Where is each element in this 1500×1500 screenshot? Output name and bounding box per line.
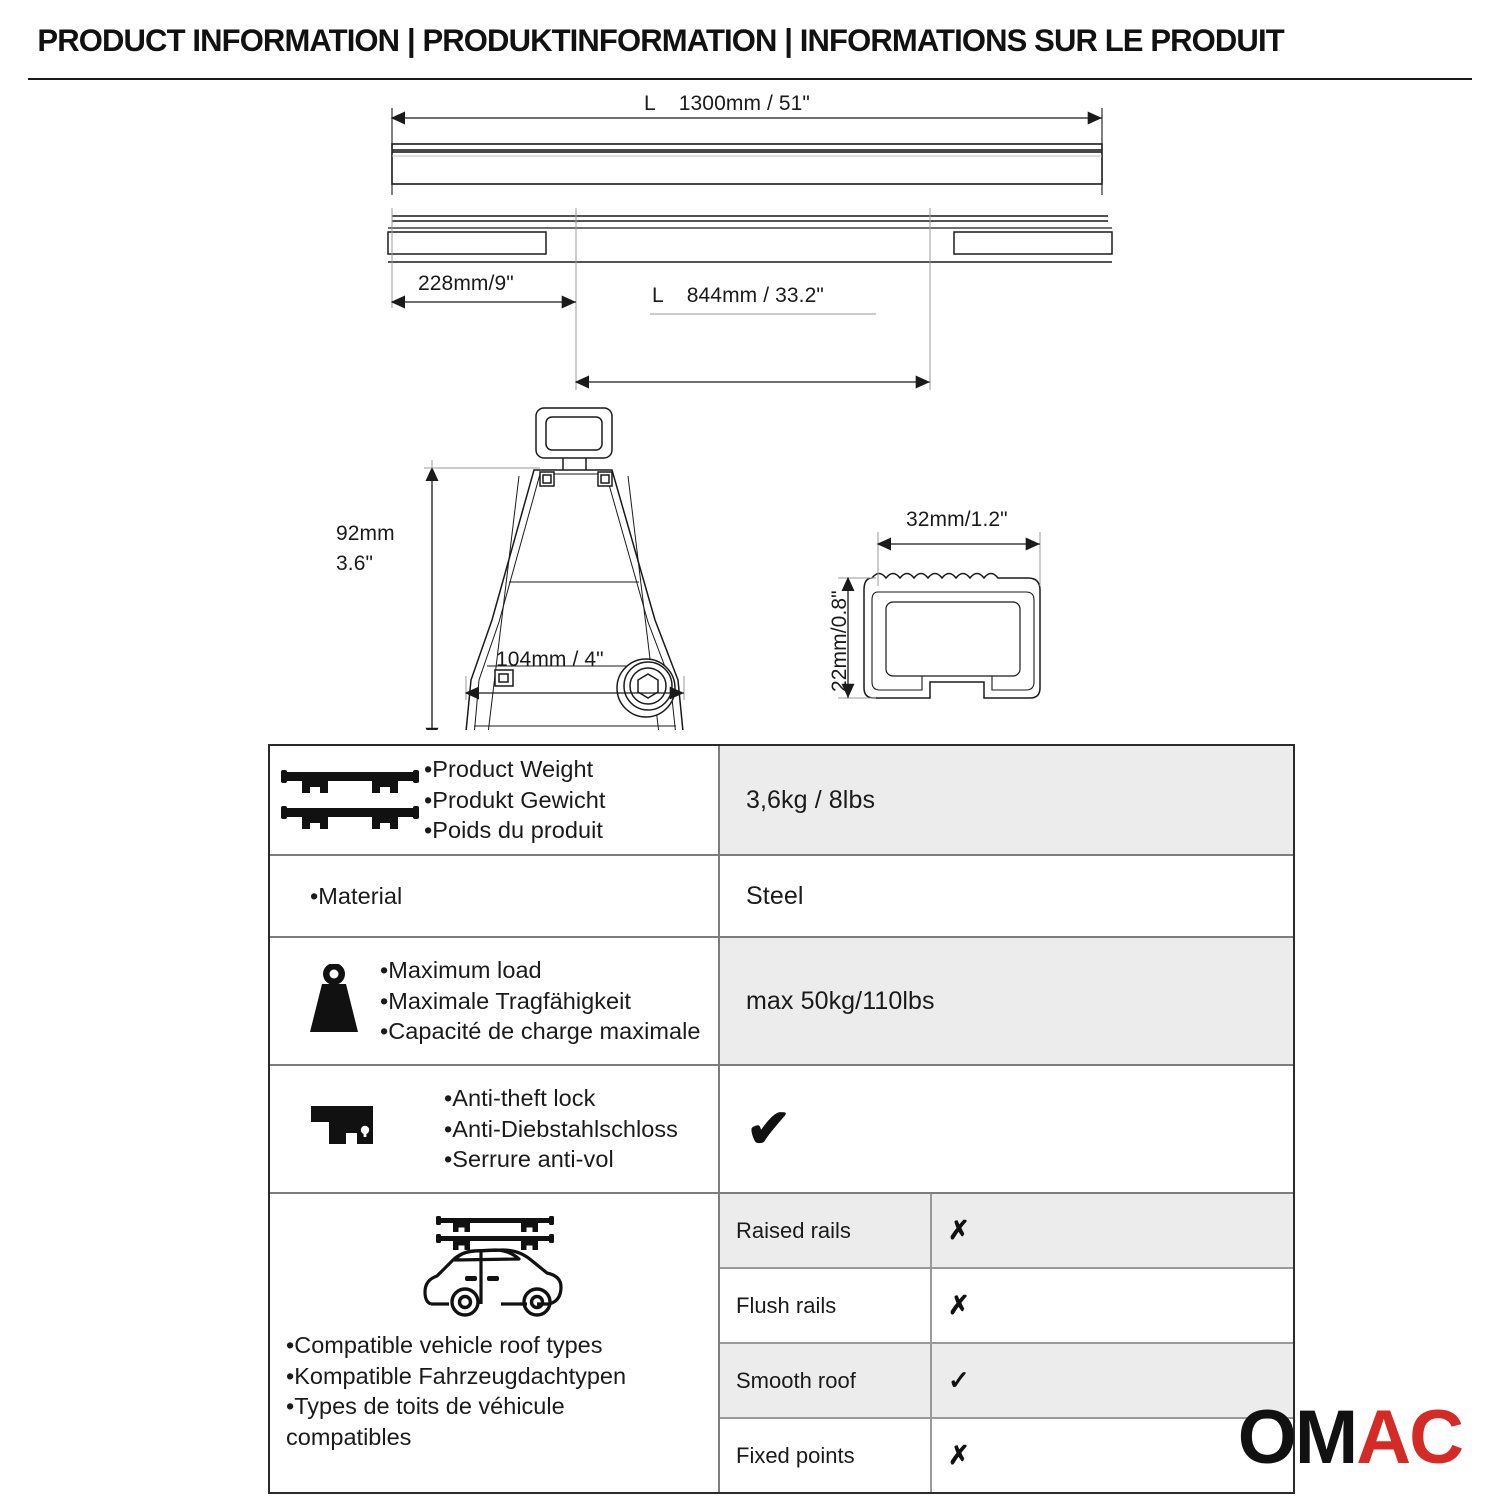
spec-label-cell: •Maximum load •Maximale Tragfähigkeit •C… xyxy=(270,938,720,1064)
dim-foot-offset: 228mm/9" xyxy=(418,272,514,296)
compat-label-line: •Types de toits de véhicule xyxy=(286,1391,626,1422)
spec-label-list: •Anti-theft lock •Anti-Diebstahlschloss … xyxy=(444,1083,678,1175)
page-title: PRODUCT INFORMATION | PRODUKTINFORMATION… xyxy=(0,22,1284,59)
roof-type-name: Raised rails xyxy=(720,1194,932,1267)
table-row: •Anti-theft lock •Anti-Diebstahlschloss … xyxy=(270,1066,1293,1194)
roof-type-row-fixed-points: Fixed points ✗ xyxy=(720,1419,1293,1492)
compat-label-line: •Compatible vehicle roof types xyxy=(286,1330,626,1361)
lock-bar-icon xyxy=(270,1100,430,1158)
spec-label-line: •Capacité de charge maximale xyxy=(380,1016,701,1047)
spec-label-cell: •Anti-theft lock •Anti-Diebstahlschloss … xyxy=(270,1066,720,1192)
roof-type-name: Smooth roof xyxy=(720,1344,932,1417)
spec-value-weight: 3,6kg / 8lbs xyxy=(720,746,1293,854)
spec-label-line: •Maximale Tragfähigkeit xyxy=(380,986,701,1017)
table-row: •Maximum load •Maximale Tragfähigkeit •C… xyxy=(270,938,1293,1066)
spec-label-line: •Maximum load xyxy=(380,955,701,986)
compat-label-cell: •Compatible vehicle roof types •Kompatib… xyxy=(270,1194,720,1492)
dim-span-between-feet: L 844mm / 33.2" xyxy=(652,284,824,308)
compat-label-line: •Kompatible Fahrzeugdachtypen xyxy=(286,1361,626,1392)
dim-profile-height: 22mm/0.8" xyxy=(828,590,852,692)
roof-type-row-smooth-roof: Smooth roof ✓ xyxy=(720,1344,1293,1419)
cross-icon: ✗ xyxy=(932,1194,1293,1267)
table-row: •Material Steel xyxy=(270,856,1293,938)
technical-drawing-svg xyxy=(0,80,1500,730)
spec-value-max-load: max 50kg/110lbs xyxy=(720,938,1293,1064)
technical-drawing-area: L 1300mm / 51" 228mm/9" L 844mm / 33.2" … xyxy=(0,80,1500,730)
roof-type-row-flush-rails: Flush rails ✗ xyxy=(720,1269,1293,1344)
spec-label-list: •Material xyxy=(270,881,402,912)
spec-value-anti-theft: ✔ xyxy=(720,1066,1293,1192)
dim-foot-width: 104mm / 4" xyxy=(496,648,604,672)
spec-label-line: •Poids du produit xyxy=(424,815,605,846)
spec-label-list: •Product Weight •Produkt Gewicht •Poids … xyxy=(424,754,605,846)
dim-foot-height-in: 3.6" xyxy=(336,552,373,576)
logo-text-red: AC xyxy=(1356,1395,1462,1480)
compat-label-line: compatibles xyxy=(286,1422,626,1453)
spec-label-list: •Maximum load •Maximale Tragfähigkeit •C… xyxy=(380,955,701,1047)
dim-profile-width: 32mm/1.2" xyxy=(906,508,1008,532)
weight-icon xyxy=(270,964,398,1038)
two-crossbars-icon xyxy=(270,764,430,836)
spec-label-line: •Material xyxy=(310,881,402,912)
spec-label-line: •Anti-theft lock xyxy=(444,1083,678,1114)
dim-foot-height-mm: 92mm xyxy=(336,522,395,546)
spec-label-line: •Serrure anti-vol xyxy=(444,1144,678,1175)
roof-type-row-raised-rails: Raised rails ✗ xyxy=(720,1194,1293,1269)
roof-type-name: Flush rails xyxy=(720,1269,932,1342)
car-with-roof-bars-icon xyxy=(270,1208,718,1324)
page-header: PRODUCT INFORMATION | PRODUKTINFORMATION… xyxy=(0,0,1500,80)
table-row: •Compatible vehicle roof types •Kompatib… xyxy=(270,1194,1293,1492)
logo-text-dark: OM xyxy=(1238,1395,1356,1480)
omac-logo: OMAC xyxy=(1238,1400,1462,1476)
roof-type-grid: Raised rails ✗ Flush rails ✗ Smooth roof… xyxy=(720,1194,1293,1492)
dim-bar-length: L 1300mm / 51" xyxy=(644,92,810,116)
spec-label-cell: •Product Weight •Produkt Gewicht •Poids … xyxy=(270,746,720,854)
spec-label-line: •Produkt Gewicht xyxy=(424,785,605,816)
spec-label-line: •Product Weight xyxy=(424,754,605,785)
spec-value-material: Steel xyxy=(720,856,1293,936)
compat-label-list: •Compatible vehicle roof types •Kompatib… xyxy=(270,1330,626,1452)
spec-label-cell: •Material xyxy=(270,856,720,936)
logo-text: OMAC xyxy=(1238,1400,1462,1476)
table-row: •Product Weight •Produkt Gewicht •Poids … xyxy=(270,746,1293,856)
cross-icon: ✗ xyxy=(932,1269,1293,1342)
check-icon: ✔ xyxy=(746,1102,791,1156)
roof-type-name: Fixed points xyxy=(720,1419,932,1492)
product-spec-table: •Product Weight •Produkt Gewicht •Poids … xyxy=(268,744,1295,1494)
spec-label-line: •Anti-Diebstahlschloss xyxy=(444,1114,678,1145)
